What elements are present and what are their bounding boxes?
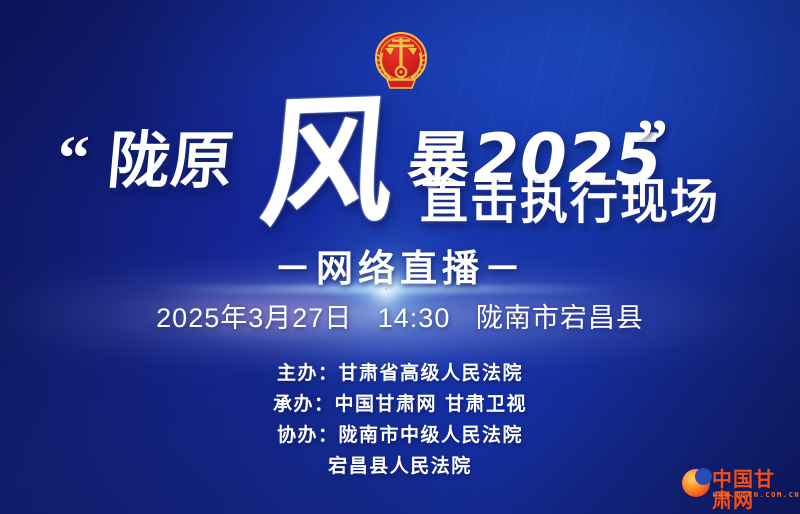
live-broadcast-label: －网络直播－	[0, 238, 800, 292]
organizer-line: 协办：陇南市中级人民法院	[0, 420, 800, 451]
gscn-site-logo[interactable]: 中国甘肃网 WWW.GSCN.COM.CN	[682, 466, 792, 506]
quote-close-mark: ”	[636, 110, 664, 174]
organizer-line: 宕昌县人民法院	[0, 451, 800, 482]
event-datetime-location: 2025年3月27日 14:30 陇南市宕昌县	[0, 296, 800, 335]
live-broadcast-poster: “ 陇原 风 暴 2025 ” 直击执行现场 －网络直播－ 2025年3月27日…	[0, 0, 800, 514]
poster-title: “ 陇原 风 暴 2025 ” 直击执行现场	[0, 104, 800, 236]
title-part-longyuan: 陇原	[105, 130, 236, 192]
title-part-feng-brush: 风	[256, 92, 401, 236]
organizer-list: 主办：甘肃省高级人民法院 承办：中国甘肃网 甘肃卫视 协办：陇南市中级人民法院 …	[0, 358, 800, 482]
gscn-logo-icon	[682, 469, 710, 497]
gscn-logo-url: WWW.GSCN.COM.CN	[713, 491, 800, 499]
gscn-logo-text: 中国甘肃网	[712, 469, 792, 511]
quote-open-mark: “	[58, 126, 86, 190]
organizer-line: 主办：甘肃省高级人民法院	[0, 358, 800, 389]
title-subtitle: 直击执行现场	[420, 178, 720, 226]
organizer-line: 承办：中国甘肃网 甘肃卫视	[0, 389, 800, 420]
